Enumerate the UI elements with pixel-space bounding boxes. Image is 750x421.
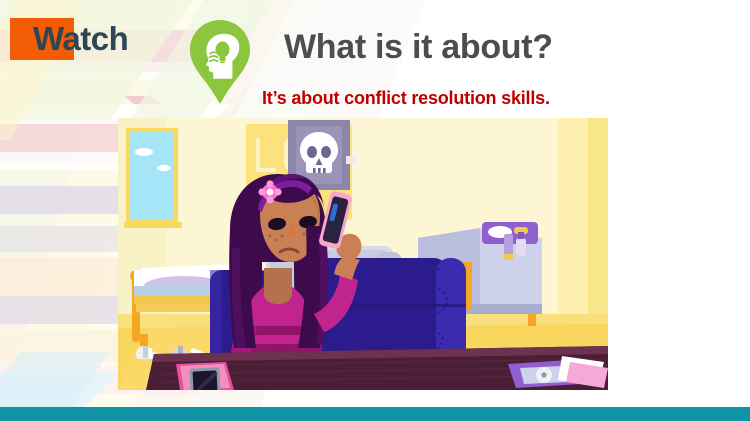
slide-root: Watch What is it about? It’s about confl… [0, 0, 750, 421]
head-lightbulb-idea-pin-icon [186, 18, 254, 106]
page-subtitle: It’s about conflict resolution skills. [262, 86, 550, 110]
bedroom-scene-illustration [118, 118, 608, 390]
footer-accent-bar [0, 407, 750, 421]
illustration-frame [118, 118, 608, 390]
watch-badge-label: Watch [33, 19, 128, 59]
page-title: What is it about? [284, 26, 553, 68]
